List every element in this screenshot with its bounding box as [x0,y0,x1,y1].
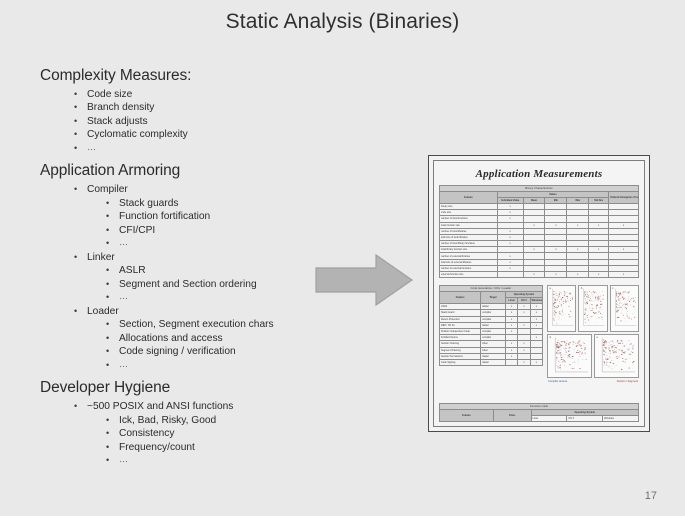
plot-canvas [579,286,606,331]
outline-bullet-label: Segment and Section ordering [119,278,257,291]
outline-bullet-label: Loader [87,305,119,318]
bullet-icon: • [74,305,87,319]
bullet-icon: • [106,224,119,238]
plot-caption-right: Section / Segment [617,380,638,383]
bullet-icon: • [106,318,119,332]
outline-bullet-label: Section, Segment execution chars [119,318,274,331]
outline-bullet-label: … [87,142,97,154]
bullet-icon: • [106,359,119,373]
outline-bullet-label: CFI/CPI [119,224,155,237]
plot-label: b [581,287,582,290]
armoring-section: Code Generation / CFG / Loader Feature T… [439,285,543,383]
col-feature: Feature [440,191,498,203]
col-target: Target [481,291,506,303]
plot-canvas [611,286,638,331]
bullet-icon: • [74,128,87,142]
outline-heading: Developer Hygiene [40,378,340,399]
bullet-icon: • [74,183,87,197]
plot-canvas [595,335,638,377]
outline-bullet-label: Cyclomatic complexity [87,128,188,141]
scatter-plot-e: e [594,334,639,378]
cell-win: x [530,359,542,365]
outline-heading: Complexity Measures: [40,66,340,87]
plot-label: d [550,336,551,339]
document-title: Application Measurements [439,168,639,180]
outline-bullet-item: •ASLR [106,264,340,278]
outline-bullet-label: … [119,291,129,303]
outline-bullet-item: •… [106,237,340,251]
outline-bullet-item: •… [106,454,340,468]
outline-bullet-item: •Function fortification [106,210,340,224]
bullet-icon: • [74,251,87,265]
outline-bullet-item: •Stack adjusts [74,115,340,129]
bullet-icon: • [106,210,119,224]
col-osx: OS X [567,415,603,421]
outline-bullet-item: •Segment and Section ordering [106,278,340,292]
slide-canvas: Static Analysis (Binaries) Complexity Me… [0,0,685,516]
outline-bullet-item: •CFI/CPI [106,224,340,238]
outline-bullet-label: Code size [87,88,132,101]
right-arrow-icon [314,252,414,308]
outline-list: Complexity Measures:•Code size•Branch de… [40,66,340,468]
bullet-icon: • [106,332,119,346]
outline-bullet-label: Ick, Bad, Risky, Good [119,414,216,427]
armoring-body: ASLRloaderxxxStack GuardcompilerxxxRetur… [440,304,543,366]
outline-bullet-label: Function fortification [119,210,210,223]
scatter-plot-grid: abc de Compiler access Section / Segment [547,285,639,383]
plot-label: a [550,287,551,290]
col-linux: Linux [531,415,567,421]
col-histogram: Ordered Histogram of Individual Values [609,191,639,203]
outline-bullet-item: •Linker [74,251,340,265]
application-measurements-document[interactable]: Application Measurements Binary Characte… [428,155,650,432]
table-header: Feature Values Ordered Histogram of Indi… [440,191,639,203]
flow-arrow [314,252,414,308]
outline-bullet-item: •… [106,359,340,373]
plot-row-1: abc [547,285,639,332]
binary-characteristics-section: Binary Characteristics Feature Values Or… [439,185,639,278]
cell-feature: Code Signing [440,359,481,365]
cell-std: x [589,272,609,278]
col-feature: Feature [440,409,494,421]
col-windows: Windows [603,415,639,421]
outline-bullet-label: Code signing / verification [119,345,236,358]
outline-bullet-label: Consistency [119,427,175,440]
col-feature: Feature [440,291,481,303]
bullet-icon: • [74,142,87,156]
bullet-icon: • [106,427,119,441]
bullet-icon: • [106,441,119,455]
bullet-icon: • [106,414,119,428]
bullet-icon: • [106,345,119,359]
outline-bullet-label: Branch density [87,101,154,114]
outline-bullet-label: Frequency/count [119,441,195,454]
outline-bullet-item: •Branch density [74,101,340,115]
page-number: 17 [645,490,657,502]
outline-bullet-label: … [119,359,129,371]
outline-bullet-label: Allocations and access [119,332,223,345]
scatter-plot-c: c [610,285,639,332]
outline-bullet-label: … [119,237,129,249]
table-row: external function sizexxxxx [440,272,639,278]
bullet-icon: • [106,237,119,251]
outline-bullet-item: •Code size [74,88,340,102]
outline-bullet-item: •Section, Segment execution chars [106,318,340,332]
outline-bullet-label: Stack adjusts [87,115,148,128]
outline-bullet-item: •Consistency [106,427,340,441]
table-row: Code Signingloaderxx [440,359,543,365]
outline-bullet-item: •Loader [74,305,340,319]
cell-mean: x [523,272,545,278]
outline-bullet-label: Linker [87,251,115,264]
col-class: Class [493,409,531,421]
cell-target: loader [481,359,506,365]
bullet-icon: • [106,454,119,468]
armoring-and-plots: Code Generation / CFG / Loader Feature T… [439,285,639,383]
bullet-icon: • [74,88,87,102]
function-calls-table: Feature Class Operating System Linux OS … [439,409,639,422]
outline-bullet-label: … [119,454,129,466]
plot-captions: Compiler access Section / Segment [547,380,639,383]
outline-bullet-item: •~500 POSIX and ANSI functions [74,400,340,414]
armoring-table: Feature Target Operating System Linux OS… [439,291,543,366]
scatter-plot-b: b [578,285,607,332]
outline-bullet-item: •Ick, Bad, Risky, Good [106,414,340,428]
outline-heading: Application Armoring [40,161,340,182]
cell-linux [505,359,517,365]
plot-row-2: de [547,334,639,378]
cell-hist: x [609,272,639,278]
bullet-icon: • [74,115,87,129]
outline-bullet-label: ASLR [119,264,146,277]
scatter-plot-d: d [547,334,592,378]
plot-label: c [612,287,613,290]
binary-characteristics-table: Feature Values Ordered Histogram of Indi… [439,191,639,279]
outline-bullet-item: •Code signing / verification [106,345,340,359]
cell-individual [497,272,523,278]
outline-bullet-label: ~500 POSIX and ANSI functions [87,400,233,413]
plot-label: e [597,336,598,339]
cell-osx: x [518,359,530,365]
cell-max: x [567,272,589,278]
outline-bullet-label: Compiler [87,183,128,196]
outline-bullet-item: •Frequency/count [106,441,340,455]
outline-bullet-item: •Stack guards [106,197,340,211]
bullet-icon: • [106,278,119,292]
cell-min: x [545,272,567,278]
scatter-plot-a: a [547,285,576,332]
outline-bullet-item: •Cyclomatic complexity [74,128,340,142]
plot-caption-left: Compiler access [548,380,567,383]
binary-characteristics-body: binary sizexcode sizexnumber of local fu… [440,203,639,277]
outline-bullet-item: •Compiler [74,183,340,197]
bullet-icon: • [74,400,87,414]
plot-canvas [548,335,591,377]
page-title: Static Analysis (Binaries) [0,10,685,34]
outline-bullet-label: Stack guards [119,197,178,210]
outline-bullet-item: •… [106,291,340,305]
outline-bullet-item: •Allocations and access [106,332,340,346]
function-calls-section: Function Calls Feature Class Operating S… [439,403,639,422]
plot-canvas [548,286,575,331]
cell-feature: external function size [440,272,498,278]
outline-bullet-item: •… [74,142,340,156]
bullet-icon: • [106,291,119,305]
bullet-icon: • [74,101,87,115]
bullet-icon: • [106,197,119,211]
bullet-icon: • [106,264,119,278]
